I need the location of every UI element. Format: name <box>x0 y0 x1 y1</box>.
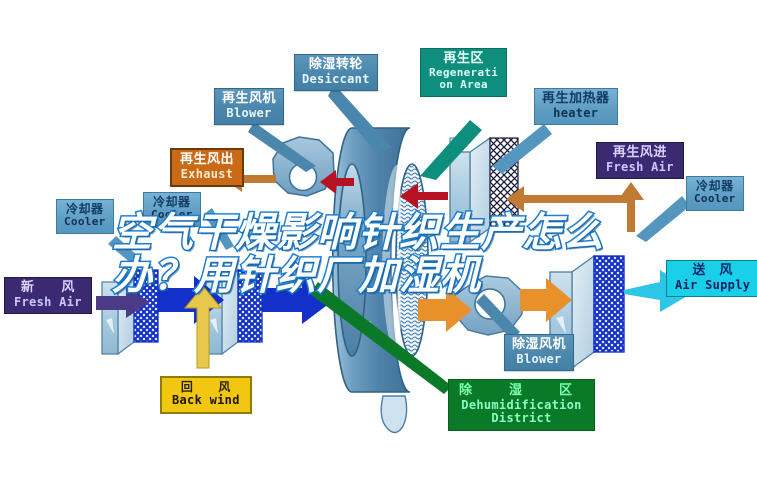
label-en-line1: Dehumidification <box>459 399 584 412</box>
headline-line-2: 办？用针织厂加湿机 <box>112 255 712 298</box>
label-cn: 除湿转轮 <box>302 58 370 73</box>
diagram-canvas: XI <box>0 0 757 488</box>
svg-text:XI: XI <box>360 319 372 333</box>
label-desiccant-wheel[interactable]: 除湿转轮 Desiccant <box>294 54 378 91</box>
label-en: Cooler <box>694 193 736 205</box>
label-cn: 除湿风机 <box>512 338 566 353</box>
label-cn: 再生区 <box>429 52 498 67</box>
label-en: Exhaust <box>180 168 234 181</box>
label-cn: 冷却器 <box>151 196 193 209</box>
label-regeneration-fresh-air[interactable]: 再生风进 Fresh Air <box>596 142 684 179</box>
label-dehumidification-blower[interactable]: 除湿风机 Blower <box>504 334 574 371</box>
label-en: Back wind <box>172 394 240 407</box>
label-cn: 冷却器 <box>694 180 736 193</box>
label-cn: 冷却器 <box>64 203 106 216</box>
label-regeneration-heater[interactable]: 再生加热器 heater <box>534 88 618 125</box>
label-regeneration-blower[interactable]: 再生风机 Blower <box>214 88 284 125</box>
label-en-line1: Regenerati <box>429 67 498 79</box>
label-cn: 再生风进 <box>606 146 674 161</box>
label-cn: 再生加热器 <box>542 92 610 107</box>
label-en-line2: on Area <box>429 79 498 91</box>
label-fresh-air[interactable]: 新 风 Fresh Air <box>4 277 92 314</box>
label-cn: 除 湿 区 <box>459 384 584 399</box>
label-cn: 新 风 <box>14 281 82 296</box>
label-en: Fresh Air <box>606 161 674 174</box>
label-en: Fresh Air <box>14 296 82 309</box>
label-en-line2: District <box>459 412 584 425</box>
label-en: heater <box>542 107 610 120</box>
label-dehumidification-district[interactable]: 除 湿 区 Dehumidification District <box>448 379 595 431</box>
label-cooler-left[interactable]: 冷却器 Cooler <box>56 199 114 234</box>
label-en: Cooler <box>64 216 106 228</box>
headline-line-1: 空气干燥影响针织生产怎么 <box>112 212 712 255</box>
regeneration-blower-housing <box>273 137 334 196</box>
label-cn: 再生风机 <box>222 92 276 107</box>
label-en: Desiccant <box>302 73 370 86</box>
label-en: Blower <box>222 107 276 120</box>
headline-overlay: 空气干燥影响针织生产怎么 办？用针织厂加湿机 <box>112 212 712 298</box>
label-cn: 再生风出 <box>180 153 234 168</box>
label-regeneration-area[interactable]: 再生区 Regenerati on Area <box>420 48 507 97</box>
label-cn: 回 风 <box>172 381 240 394</box>
label-regeneration-exhaust[interactable]: 再生风出 Exhaust <box>170 148 244 187</box>
label-back-wind[interactable]: 回 风 Back wind <box>160 376 252 414</box>
label-cooler-right[interactable]: 冷却器 Cooler <box>686 176 744 211</box>
label-en: Blower <box>512 353 566 366</box>
